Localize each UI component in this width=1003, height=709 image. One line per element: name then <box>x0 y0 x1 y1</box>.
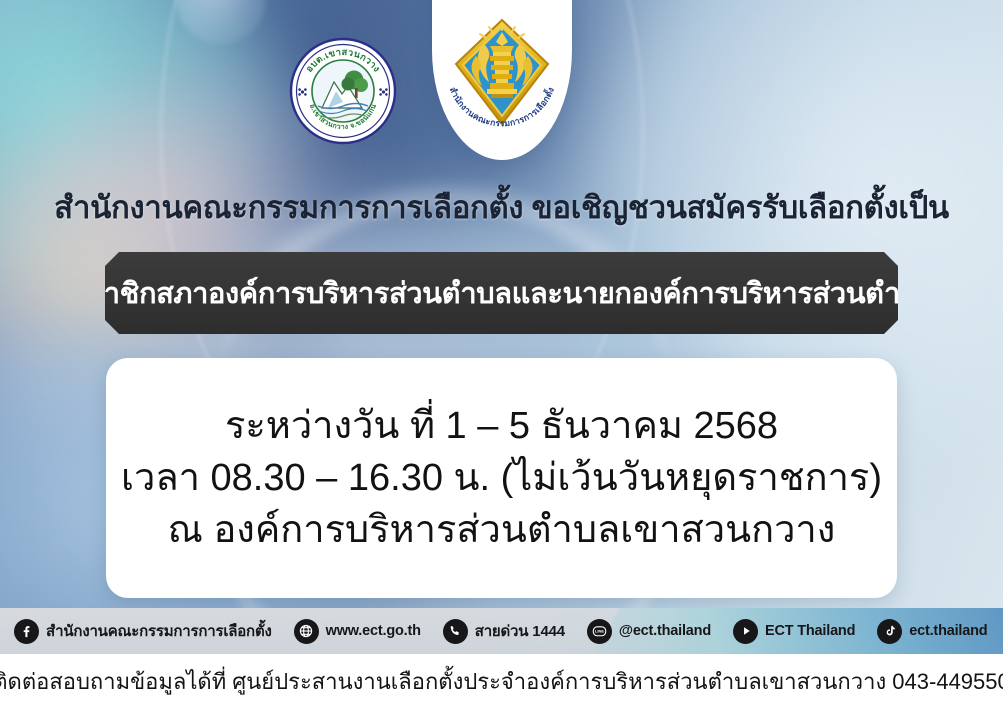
social-link-hotline[interactable]: สายด่วน 1444 <box>443 619 565 644</box>
svg-text:LINE: LINE <box>595 628 604 633</box>
contact-info-text: ติดต่อสอบถามข้อมูลได้ที่ ศูนย์ประสานงานเ… <box>0 664 1003 699</box>
tiktok-icon <box>877 619 902 644</box>
contact-strip: ติดต่อสอบถามข้อมูลได้ที่ ศูนย์ประสานงานเ… <box>0 654 1003 709</box>
social-label-hotline: สายด่วน 1444 <box>475 619 565 643</box>
facebook-icon <box>14 619 39 644</box>
social-link-line[interactable]: LINE @ect.thailand <box>587 619 711 644</box>
page-title: สำนักงานคณะกรรมการการเลือกตั้ง ขอเชิญชวน… <box>0 182 1003 232</box>
detail-line-place: ณ องค์การบริหารส่วนตำบลเขาสวนกวาง <box>168 505 836 555</box>
obt-seal-icon: อบต.เขาสวนกวาง อ.เขาสวนกวาง จ.ขอนแก่น <box>288 36 398 146</box>
social-label-website: www.ect.go.th <box>326 623 421 639</box>
ect-emblem-icon: สำนักงานคณะกรรมการการเลือกตั้ง <box>440 12 564 146</box>
detail-line-time: เวลา 08.30 – 16.30 น. (ไม่เว้นวันหยุดราช… <box>121 453 882 503</box>
youtube-icon <box>733 619 758 644</box>
social-label-youtube: ECT Thailand <box>765 623 855 639</box>
social-link-facebook[interactable]: สำนักงานคณะกรรมการการเลือกตั้ง <box>14 619 272 644</box>
line-icon: LINE <box>587 619 612 644</box>
social-link-tiktok[interactable]: ect.thailand <box>877 619 987 644</box>
phone-icon <box>443 619 468 644</box>
subject-banner-text: สมาชิกสภาองค์การบริหารส่วนตำบลและนายกองค… <box>68 270 935 316</box>
social-link-youtube[interactable]: ECT Thailand <box>733 619 855 644</box>
social-links-list: สำนักงานคณะกรรมการการเลือกตั้ง www.ect.g… <box>0 619 1003 644</box>
detail-line-date: ระหว่างวัน ที่ 1 – 5 ธันวาคม 2568 <box>225 401 778 451</box>
details-card: ระหว่างวัน ที่ 1 – 5 ธันวาคม 2568 เวลา 0… <box>106 358 897 598</box>
social-label-facebook: สำนักงานคณะกรรมการการเลือกตั้ง <box>46 619 272 643</box>
globe-icon <box>294 619 319 644</box>
poster-root: อบต.เขาสวนกวาง อ.เขาสวนกวาง จ.ขอนแก่น <box>0 0 1003 709</box>
social-label-line: @ect.thailand <box>619 623 711 639</box>
social-link-website[interactable]: www.ect.go.th <box>294 619 421 644</box>
social-footer-bar: สำนักงานคณะกรรมการการเลือกตั้ง www.ect.g… <box>0 608 1003 654</box>
subject-banner: สมาชิกสภาองค์การบริหารส่วนตำบลและนายกองค… <box>105 252 898 334</box>
social-label-tiktok: ect.thailand <box>909 623 987 639</box>
